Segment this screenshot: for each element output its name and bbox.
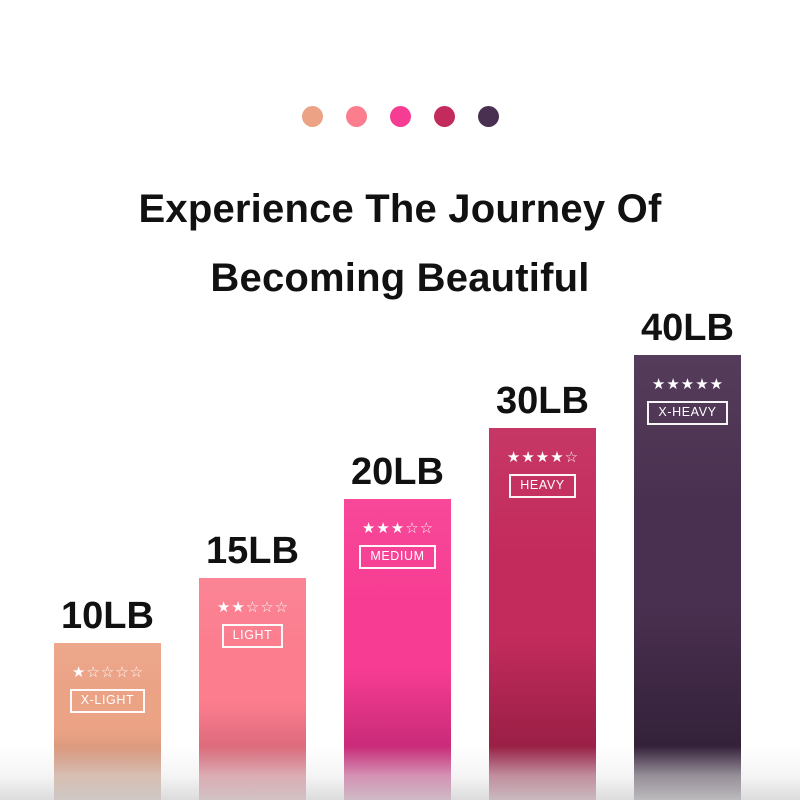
star-empty-icon: ☆ [405,521,418,536]
bar-weight-label: 40LB [641,309,734,347]
star-filled-icon: ★ [536,450,549,465]
bar-content: ★☆☆☆☆X-LIGHT [54,665,161,713]
infographic-canvas: Experience The Journey Of Becoming Beaut… [0,0,800,800]
bar-content: ★★★★☆HEAVY [489,450,596,498]
bar-group-x-heavy[interactable]: 40LB★★★★★X-HEAVY [634,355,741,800]
star-empty-icon: ☆ [130,665,143,680]
star-rating: ★★★★☆ [507,450,578,465]
bar-weight-label: 15LB [206,532,299,570]
star-empty-icon: ☆ [565,450,578,465]
resistance-band-bar-chart: 10LB★☆☆☆☆X-LIGHT15LB★★☆☆☆LIGHT20LB★★★☆☆M… [0,0,800,800]
star-empty-icon: ☆ [246,600,259,615]
star-filled-icon: ★ [521,450,534,465]
star-rating: ★★★☆☆ [362,521,433,536]
bar-weight-label: 20LB [351,453,444,491]
star-empty-icon: ☆ [101,665,114,680]
star-filled-icon: ★ [231,600,244,615]
star-filled-icon: ★ [362,521,375,536]
bar-group-x-light[interactable]: 10LB★☆☆☆☆X-LIGHT [54,643,161,800]
resistance-level-badge: MEDIUM [359,545,435,569]
bar-group-medium[interactable]: 20LB★★★☆☆MEDIUM [344,499,451,800]
star-empty-icon: ☆ [86,665,99,680]
star-empty-icon: ☆ [115,665,128,680]
resistance-level-badge: HEAVY [509,474,575,498]
bar-x-heavy[interactable]: ★★★★★X-HEAVY [634,355,741,800]
star-filled-icon: ★ [217,600,230,615]
star-filled-icon: ★ [666,377,679,392]
bar-content: ★★★★★X-HEAVY [634,377,741,425]
star-filled-icon: ★ [652,377,665,392]
bar-heavy[interactable]: ★★★★☆HEAVY [489,428,596,800]
star-filled-icon: ★ [72,665,85,680]
bar-medium[interactable]: ★★★☆☆MEDIUM [344,499,451,800]
bar-group-heavy[interactable]: 30LB★★★★☆HEAVY [489,428,596,800]
bar-weight-label: 30LB [496,382,589,420]
star-filled-icon: ★ [376,521,389,536]
star-filled-icon: ★ [550,450,563,465]
bar-content: ★★★☆☆MEDIUM [344,521,451,569]
star-empty-icon: ☆ [275,600,288,615]
star-filled-icon: ★ [695,377,708,392]
bar-x-light[interactable]: ★☆☆☆☆X-LIGHT [54,643,161,800]
resistance-level-badge: LIGHT [222,624,284,648]
star-empty-icon: ☆ [260,600,273,615]
bar-light[interactable]: ★★☆☆☆LIGHT [199,578,306,800]
bar-weight-label: 10LB [61,597,154,635]
star-filled-icon: ★ [710,377,723,392]
bar-group-light[interactable]: 15LB★★☆☆☆LIGHT [199,578,306,800]
star-rating: ★★☆☆☆ [217,600,288,615]
bar-content: ★★☆☆☆LIGHT [199,600,306,648]
star-rating: ★★★★★ [652,377,723,392]
resistance-level-badge: X-HEAVY [647,401,727,425]
star-filled-icon: ★ [681,377,694,392]
star-filled-icon: ★ [391,521,404,536]
resistance-level-badge: X-LIGHT [70,689,146,713]
star-empty-icon: ☆ [420,521,433,536]
star-filled-icon: ★ [507,450,520,465]
star-rating: ★☆☆☆☆ [72,665,143,680]
